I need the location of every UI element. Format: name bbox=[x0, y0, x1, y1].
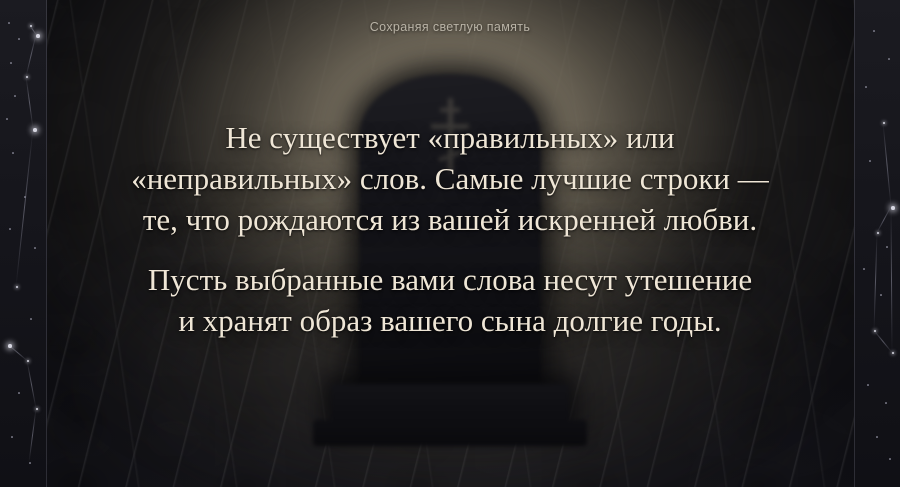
memorial-quote: Не существует «правильных» или«неправиль… bbox=[70, 118, 830, 342]
quote-paragraph: Не существует «правильных» или«неправиль… bbox=[70, 118, 830, 241]
content-layer: Сохраняя светлую память Не существует «п… bbox=[0, 0, 900, 487]
quote-line: Пусть выбранные вами слова несут утешени… bbox=[70, 260, 830, 301]
quote-line: Не существует «правильных» или bbox=[70, 118, 830, 159]
quote-line: и хранят образ вашего сына долгие годы. bbox=[70, 301, 830, 342]
page-eyebrow-title: Сохраняя светлую память bbox=[370, 20, 530, 34]
memorial-hero-banner: Сохраняя светлую память Не существует «п… bbox=[0, 0, 900, 487]
quote-line: те, что рождаются из вашей искренней люб… bbox=[70, 200, 830, 241]
quote-paragraph: Пусть выбранные вами слова несут утешени… bbox=[70, 260, 830, 342]
quote-line: «неправильных» слов. Самые лучшие строки… bbox=[70, 159, 830, 200]
